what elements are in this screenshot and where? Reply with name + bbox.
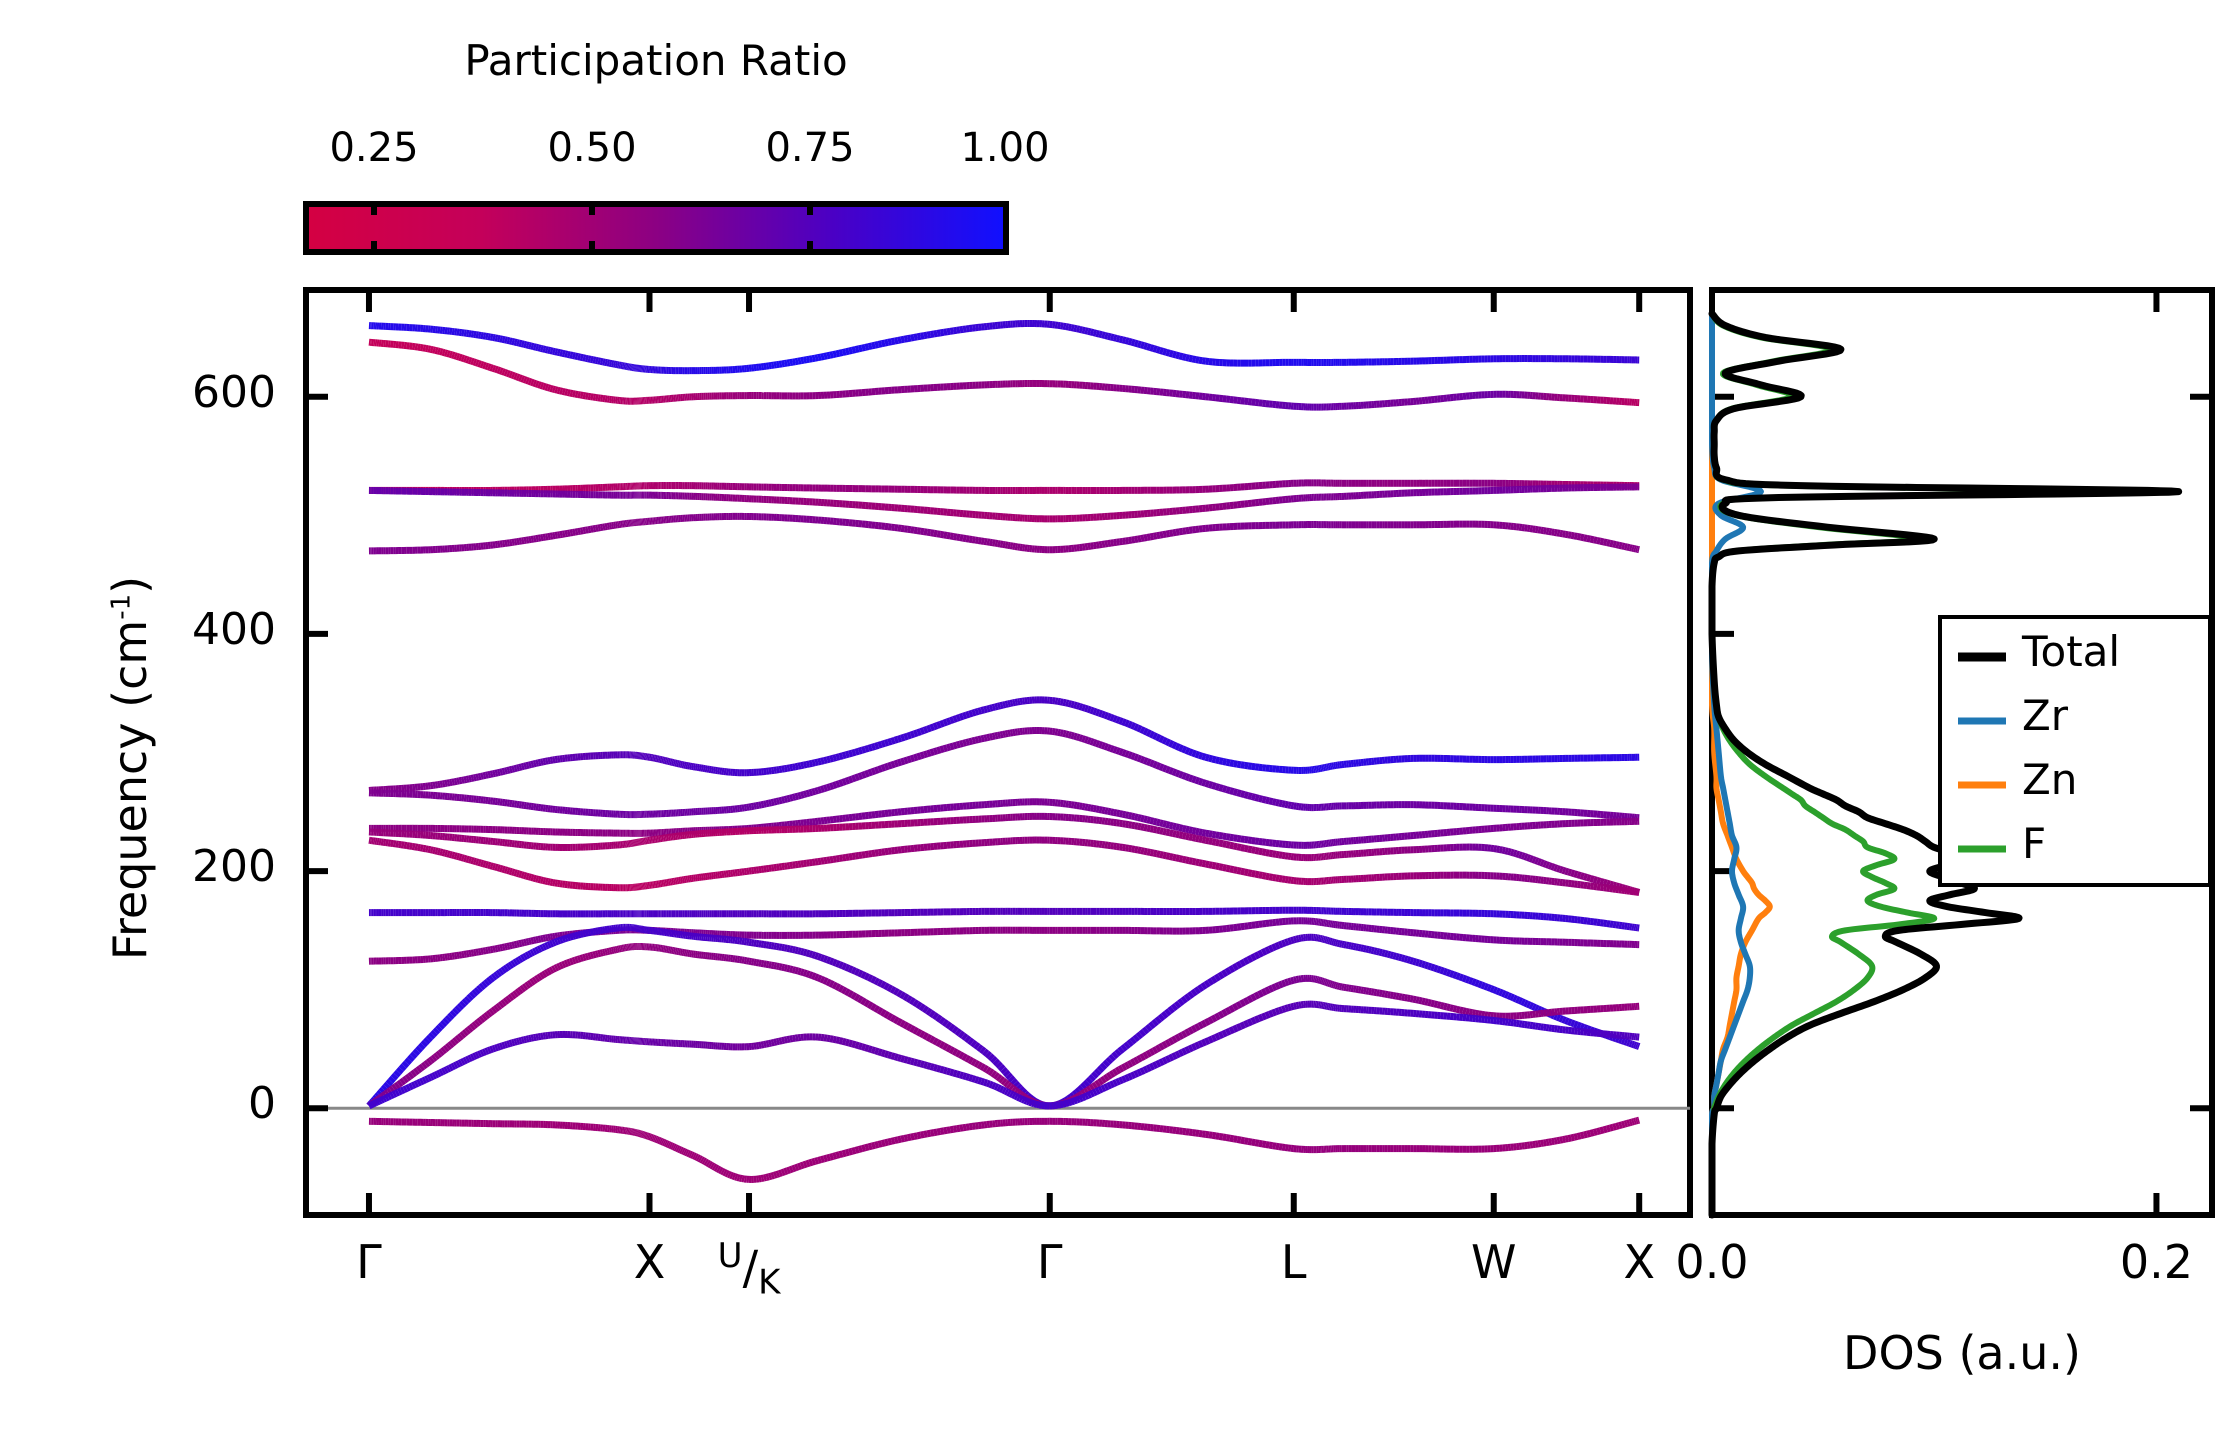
- band-segment: [990, 737, 993, 738]
- band-segment: [1192, 753, 1195, 754]
- band-segment: [1179, 828, 1182, 829]
- band-segment: [1511, 852, 1514, 853]
- band-segment: [1209, 865, 1212, 866]
- band-segment: [990, 708, 993, 709]
- band-segment: [1166, 533, 1169, 534]
- band-segment: [882, 343, 885, 344]
- band-segment: [1241, 839, 1245, 840]
- band-segment: [987, 708, 990, 709]
- band-segment: [1010, 703, 1012, 704]
- band-segment: [836, 757, 839, 758]
- band-segment: [1581, 876, 1584, 877]
- band-segment: [1144, 819, 1147, 820]
- band-segment: [1273, 854, 1276, 855]
- band-segment: [966, 742, 969, 743]
- band-segment: [1525, 856, 1528, 857]
- band-segment: [524, 766, 526, 767]
- band-segment: [1166, 769, 1169, 770]
- band-segment: [1138, 728, 1141, 729]
- band-segment: [934, 726, 937, 727]
- band-segment: [1594, 540, 1597, 541]
- band-segment: [908, 735, 911, 736]
- band-segment: [1080, 329, 1083, 330]
- band-segment: [1196, 780, 1199, 781]
- band-segment: [960, 716, 963, 717]
- band-segment: [1173, 354, 1176, 355]
- band-segment: [505, 771, 507, 772]
- band-segment: [859, 750, 862, 751]
- band-segment: [1173, 532, 1176, 533]
- band-segment: [478, 776, 480, 777]
- band-segment: [1590, 539, 1593, 540]
- band-segment: [966, 539, 969, 540]
- band-segment: [801, 360, 804, 361]
- band-segment: [790, 798, 793, 799]
- band-segment: [1138, 344, 1141, 345]
- band-segment: [459, 857, 461, 858]
- band-segment: [486, 864, 488, 865]
- band-segment: [1552, 866, 1555, 867]
- band-segment: [1126, 341, 1129, 342]
- band-segment: [1166, 742, 1169, 744]
- band-segment: [1189, 778, 1192, 779]
- band-segment: [1607, 543, 1610, 544]
- band-segment: [843, 755, 846, 756]
- band-segment: [1135, 343, 1138, 344]
- band-segment: [947, 721, 950, 722]
- band-segment: [514, 768, 516, 769]
- band-segment: [787, 798, 790, 799]
- band-line: [369, 910, 1639, 928]
- band-segment: [1147, 852, 1150, 853]
- band-segment: [1099, 334, 1102, 335]
- band-segment: [1269, 877, 1272, 878]
- band-segment: [483, 365, 485, 366]
- band-segment: [452, 855, 454, 856]
- band-segment: [1241, 794, 1245, 795]
- band-segment: [536, 879, 538, 880]
- band-segment: [1141, 538, 1144, 539]
- band-segment: [1154, 853, 1157, 854]
- band-segment: [526, 380, 528, 381]
- band-segment: [761, 804, 764, 805]
- band-segment: [914, 757, 917, 758]
- band-segment: [1108, 716, 1111, 717]
- band-segment: [1082, 707, 1085, 708]
- band-segment: [1138, 758, 1141, 759]
- band-segment: [586, 358, 589, 359]
- band-segment: [476, 363, 478, 364]
- band-segment: [1216, 786, 1220, 787]
- band-segment: [911, 337, 914, 338]
- band-segment: [827, 759, 830, 760]
- band-segment: [1625, 547, 1628, 548]
- band-segment: [1166, 824, 1169, 825]
- band-segment: [1199, 360, 1202, 361]
- band-segment: [550, 351, 552, 352]
- band-segment: [940, 332, 943, 333]
- band-segment: [1505, 851, 1508, 852]
- band-segment: [1630, 548, 1632, 549]
- band-segment: [904, 339, 907, 340]
- band-segment: [555, 352, 557, 353]
- band-segment: [1060, 702, 1063, 703]
- band-segment: [1288, 805, 1291, 806]
- band-segment: [1223, 789, 1227, 790]
- band-segment: [1189, 830, 1192, 831]
- band-segment: [1091, 808, 1094, 809]
- band-segment: [433, 850, 435, 851]
- band-segment: [1096, 712, 1099, 713]
- band-segment: [1163, 768, 1166, 769]
- band-segment: [869, 346, 872, 347]
- band-segment: [987, 737, 990, 738]
- band-segment: [1219, 867, 1223, 868]
- band-segment: [855, 349, 858, 350]
- band-segment: [1252, 850, 1256, 851]
- band-segment: [917, 336, 920, 337]
- band-segment: [481, 863, 483, 864]
- band-segment: [1154, 349, 1157, 350]
- band-segment: [1074, 328, 1077, 329]
- band-segment: [541, 385, 543, 386]
- band-segment: [502, 372, 504, 373]
- band-segment: [1135, 817, 1138, 818]
- band-segment: [1568, 535, 1571, 536]
- band-segment: [815, 358, 818, 359]
- band-segment: [1085, 708, 1088, 709]
- band-segment: [1212, 759, 1215, 760]
- band-segment: [1111, 337, 1114, 338]
- band-segment: [947, 331, 950, 332]
- band-segment: [833, 785, 836, 786]
- band-segment: [1189, 861, 1192, 862]
- band-segment: [1282, 804, 1285, 805]
- band-segment: [442, 352, 444, 353]
- band-segment: [486, 775, 488, 776]
- band-segment: [1571, 535, 1574, 536]
- band-segment: [1199, 781, 1202, 782]
- band-segment: [1199, 863, 1202, 864]
- band-segment: [1622, 546, 1625, 547]
- band-segment: [469, 360, 471, 361]
- band-segment: [1102, 714, 1105, 715]
- band-segment: [1093, 333, 1096, 334]
- band-segment: [1179, 859, 1182, 860]
- band-segment: [1132, 342, 1135, 343]
- band-segment: [1069, 703, 1072, 704]
- band-segment: [931, 727, 934, 728]
- band-segment: [1154, 764, 1157, 765]
- band-segment: [1266, 800, 1269, 801]
- band-segment: [1584, 877, 1587, 878]
- band-segment: [462, 858, 464, 859]
- band-segment: [815, 762, 818, 763]
- band-segment: [1150, 852, 1153, 853]
- band-segment: [490, 774, 492, 775]
- band-segment: [914, 733, 917, 734]
- band-segment: [1105, 335, 1108, 336]
- band-segment: [908, 759, 911, 760]
- band-segment: [1170, 856, 1173, 857]
- band-segment: [1230, 845, 1234, 846]
- band-segment: [1003, 704, 1006, 705]
- band-segment: [779, 800, 782, 801]
- band-segment: [1276, 802, 1279, 803]
- band-segment: [885, 766, 888, 767]
- band-segment: [801, 765, 804, 766]
- band-segment: [865, 347, 868, 348]
- band-segment: [888, 342, 891, 343]
- band-segment: [1183, 357, 1186, 358]
- band-segment: [833, 758, 836, 759]
- band-segment: [1000, 705, 1003, 706]
- band-segment: [471, 361, 473, 362]
- band-segment: [1285, 804, 1288, 805]
- band-segment: [1206, 840, 1209, 841]
- band-segment: [517, 768, 519, 769]
- band-segment: [839, 782, 842, 783]
- band-segment: [878, 768, 881, 769]
- band-segment: [960, 743, 963, 744]
- band-segment: [519, 378, 521, 379]
- band-segment: [1276, 854, 1279, 855]
- band-segment: [514, 873, 516, 874]
- band-segment: [931, 752, 934, 753]
- band-segment: [474, 861, 476, 862]
- band-segment: [1189, 358, 1192, 359]
- band-segment: [895, 763, 898, 764]
- band-segment: [855, 751, 858, 752]
- band-segment: [1071, 704, 1074, 705]
- band-segment: [498, 370, 500, 371]
- band-segment: [512, 375, 514, 376]
- band-segment: [541, 348, 543, 349]
- band-segment: [1138, 850, 1141, 851]
- band-segment: [1123, 753, 1126, 754]
- band-segment: [546, 387, 548, 388]
- band-segment: [1120, 721, 1123, 722]
- band-segment: [505, 372, 507, 373]
- band-segment: [950, 536, 953, 537]
- band-segment: [538, 385, 540, 386]
- band-segment: [1226, 868, 1230, 869]
- band-segment: [500, 772, 502, 773]
- band-segment: [927, 753, 930, 754]
- band-segment: [1147, 820, 1150, 821]
- band-segment: [1571, 873, 1574, 874]
- band-segment: [908, 338, 911, 339]
- band-segment: [944, 535, 947, 536]
- band-segment: [573, 355, 576, 356]
- band-segment: [830, 355, 833, 356]
- band-segment: [869, 747, 872, 748]
- band-segment: [1085, 331, 1088, 332]
- band-segment: [931, 334, 934, 335]
- band-segment: [981, 710, 984, 711]
- band-segment: [435, 350, 437, 351]
- band-segment: [1160, 823, 1163, 824]
- band-segment: [1196, 754, 1199, 755]
- band-segment: [1554, 867, 1557, 868]
- band-segment: [1196, 831, 1199, 832]
- band-segment: [1610, 543, 1613, 544]
- band-segment: [1186, 829, 1189, 830]
- band-segment: [1163, 351, 1166, 352]
- band-segment: [502, 339, 504, 340]
- band-segment: [1273, 877, 1276, 878]
- band-segment: [1223, 761, 1227, 762]
- band-segment: [457, 856, 459, 857]
- band-segment: [924, 754, 927, 755]
- band-segment: [1170, 770, 1173, 771]
- band-line: [369, 700, 1639, 791]
- band-segment: [1597, 880, 1600, 881]
- band-segment: [1069, 735, 1072, 736]
- band-segment: [937, 534, 940, 535]
- band-segment: [1199, 839, 1202, 840]
- band-segment: [529, 381, 531, 382]
- band-segment: [1141, 818, 1144, 819]
- band-segment: [1269, 853, 1272, 854]
- band-segment: [1144, 827, 1147, 828]
- band-segment: [495, 369, 497, 370]
- band-segment: [804, 765, 807, 766]
- band-segment: [1160, 535, 1163, 536]
- band-segment: [777, 801, 780, 802]
- band-segment: [1088, 709, 1091, 710]
- band-segment: [947, 747, 950, 748]
- band-segment: [1176, 858, 1179, 859]
- band-segment: [447, 854, 449, 855]
- band-segment: [1245, 839, 1249, 840]
- band-segment: [1189, 837, 1192, 838]
- band-segment: [1150, 820, 1153, 821]
- band-segment: [464, 858, 466, 859]
- band-segment: [950, 720, 953, 721]
- band-segment: [435, 851, 437, 852]
- band-segment: [793, 797, 796, 798]
- band-segment: [1252, 873, 1256, 874]
- band-segment: [519, 343, 521, 344]
- band-segment: [1060, 733, 1063, 734]
- band-segment: [1577, 875, 1580, 876]
- band-segment: [1584, 538, 1587, 539]
- band-segment: [493, 368, 495, 369]
- band-segment: [790, 767, 793, 768]
- colorbar[interactable]: [306, 204, 1006, 252]
- band-segment: [500, 868, 502, 869]
- band-segment: [944, 332, 947, 333]
- band-segment: [1212, 865, 1215, 866]
- band-segment: [1219, 761, 1223, 762]
- band-segment: [1176, 827, 1179, 828]
- band-segment: [452, 355, 454, 356]
- band-segment: [934, 751, 937, 752]
- band-segment: [917, 531, 920, 532]
- band-segment: [827, 355, 830, 356]
- band-segment: [1500, 850, 1503, 851]
- band-segment: [1179, 531, 1182, 532]
- band-segment: [846, 754, 849, 755]
- band-segment: [1186, 777, 1189, 778]
- band-segment: [875, 770, 878, 771]
- band-segment: [1179, 835, 1182, 836]
- band-segment: [442, 852, 444, 853]
- band-segment: [1163, 824, 1166, 825]
- band-segment: [1147, 762, 1150, 763]
- band-segment: [1141, 729, 1144, 730]
- band-segment: [852, 778, 855, 779]
- band-segment: [517, 377, 519, 378]
- band-segment: [1549, 865, 1552, 866]
- band-segment: [1183, 859, 1186, 860]
- band-segment: [1192, 861, 1195, 862]
- band-segment: [1176, 532, 1179, 533]
- band-segment: [869, 772, 872, 773]
- band-segment: [944, 722, 947, 723]
- band-segment: [1120, 339, 1123, 340]
- band-segment: [495, 867, 497, 868]
- band-segment: [1212, 834, 1215, 835]
- band-segment: [483, 775, 485, 776]
- band-segment: [859, 348, 862, 349]
- band-segment: [500, 371, 502, 372]
- band-segment: [1173, 857, 1176, 858]
- band-segment: [978, 711, 981, 712]
- band-segment: [1163, 855, 1166, 856]
- band-segment: [836, 784, 839, 785]
- band-segment: [583, 358, 586, 359]
- band-segment: [459, 357, 461, 358]
- band-segment: [895, 739, 898, 740]
- band-segment: [1266, 853, 1269, 854]
- band-segment: [812, 358, 815, 359]
- band-segment: [1129, 755, 1132, 756]
- band-segment: [1237, 793, 1241, 794]
- band-segment: [1255, 874, 1259, 875]
- band-segment: [1619, 545, 1622, 546]
- band-line: [369, 516, 1639, 551]
- band-segment: [764, 804, 767, 805]
- band-segment: [553, 351, 555, 352]
- band-segment: [917, 732, 920, 733]
- band-segment: [1186, 836, 1189, 837]
- band-segment: [1192, 779, 1195, 780]
- band-segment: [505, 870, 507, 871]
- band-segment: [782, 800, 785, 801]
- band-segment: [1154, 536, 1157, 537]
- band-segment: [1600, 541, 1603, 542]
- band-segment: [558, 390, 560, 391]
- band-segment: [1516, 854, 1519, 855]
- band-segment: [924, 729, 927, 730]
- band-segment: [1160, 831, 1163, 832]
- band-segment: [1209, 784, 1212, 785]
- band-segment: [769, 803, 772, 804]
- band-segment: [1568, 872, 1571, 873]
- band-segment: [812, 791, 815, 792]
- band-segment: [901, 737, 904, 738]
- band-segment: [553, 389, 555, 390]
- band-segment: [488, 774, 490, 775]
- band-segment: [924, 532, 927, 533]
- band-segment: [1514, 853, 1517, 854]
- band-segment: [524, 379, 526, 380]
- band-segment: [1170, 825, 1173, 826]
- band-segment: [771, 802, 774, 803]
- band-segment: [534, 383, 536, 384]
